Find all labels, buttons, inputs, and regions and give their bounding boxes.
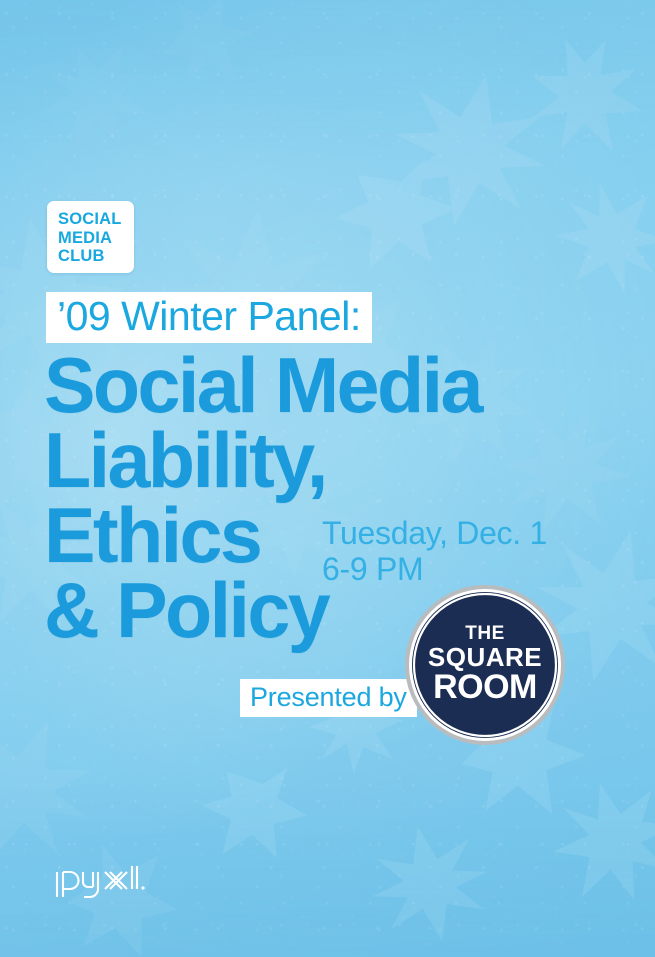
the-square-room-logo: THE SQUARE ROOM [403,583,567,747]
tsr-line-room: ROOM [433,668,537,706]
tsr-line-the: THE [465,623,505,644]
winter-panel-poster: SOCIAL MEDIA CLUB ’09 Winter Panel: Soci… [0,0,655,957]
presented-by-text: Presented by [250,681,407,713]
event-time: 6-9 PM [322,551,547,587]
pyxl-logo: pyxl [52,860,148,900]
smc-line-club: CLUB [58,247,134,266]
kicker-text: ’09 Winter Panel: [57,293,361,340]
smc-line-media: MEDIA [58,229,134,248]
pyxl-period-dot [141,886,144,889]
social-media-club-logo: SOCIAL MEDIA CLUB [47,201,134,273]
kicker-band: ’09 Winter Panel: [46,292,372,343]
event-date: Tuesday, Dec. 1 [322,515,547,551]
headline-line-2: Liability, [44,423,638,498]
smc-line-social: SOCIAL [58,210,134,229]
presented-by-band: Presented by [240,679,417,717]
headline-line-1: Social Media [44,348,638,423]
event-datetime: Tuesday, Dec. 1 6-9 PM [322,515,547,587]
